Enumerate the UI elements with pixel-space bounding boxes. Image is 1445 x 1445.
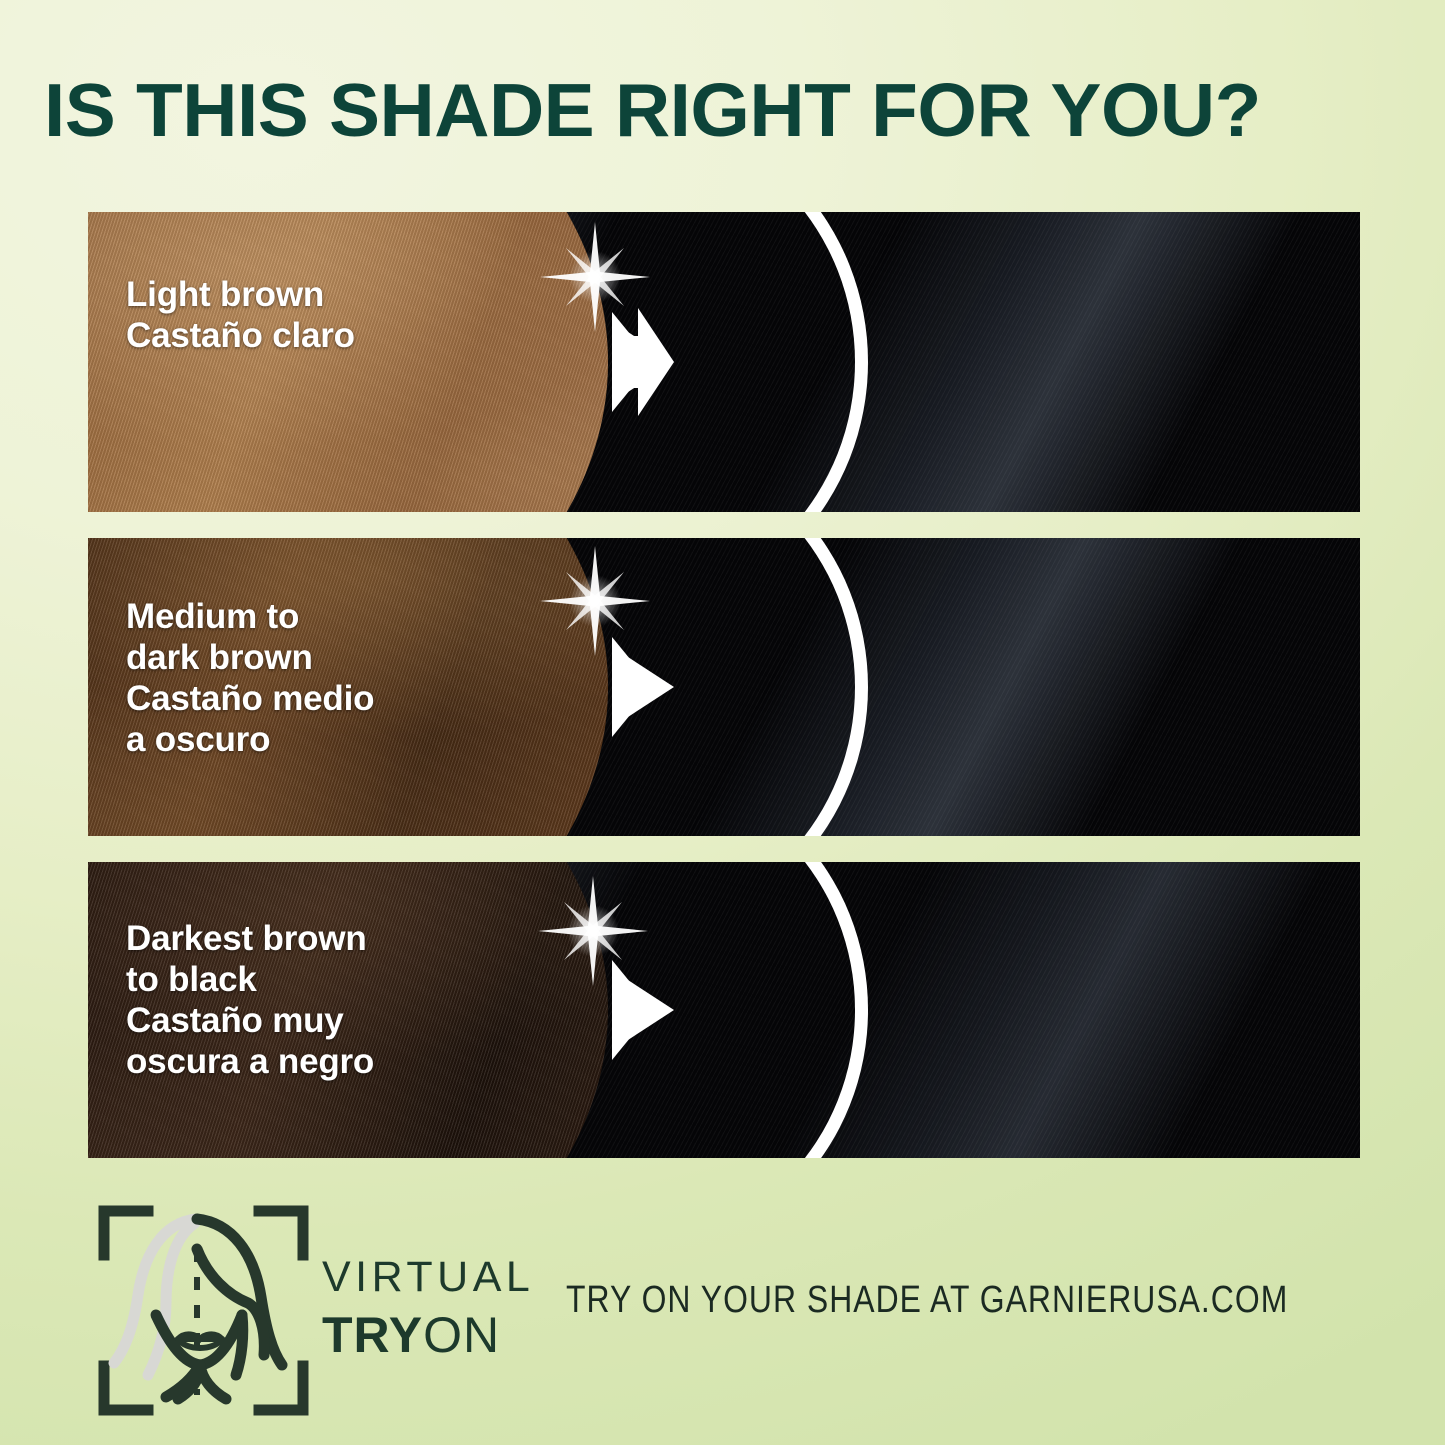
before-shade-swatch — [88, 212, 608, 512]
wordmark-try: TRY — [322, 1307, 423, 1363]
wordmark-on: ON — [423, 1307, 500, 1363]
virtual-try-on-wordmark[interactable]: VIRTUAL TRYON — [322, 1256, 534, 1360]
page-title: IS THIS SHADE RIGHT FOR YOU? — [44, 72, 1441, 148]
try-on-cta-text[interactable]: TRY ON YOUR SHADE AT GARNIERUSA.COM — [566, 1278, 1288, 1322]
hair-texture — [88, 212, 608, 512]
shade-caption: Light brown Castaño claro — [126, 274, 355, 356]
virtual-try-on-face-scan-icon[interactable] — [96, 1203, 311, 1418]
wordmark-virtual: VIRTUAL — [322, 1256, 534, 1299]
shade-panel-light-brown: Light brown Castaño claro — [88, 212, 1360, 512]
shade-panel-medium-to-dark-brown: Medium to dark brown Castaño medio a osc… — [88, 538, 1360, 836]
shade-caption: Darkest brown to black Castaño muy oscur… — [126, 918, 374, 1082]
wordmark-tryon: TRYON — [322, 1310, 534, 1360]
shade-guide-page: IS THIS SHADE RIGHT FOR YOU? — [0, 0, 1445, 1445]
shade-caption: Medium to dark brown Castaño medio a osc… — [126, 596, 374, 760]
shade-panel-darkest-brown-to-black: Darkest brown to black Castaño muy oscur… — [88, 862, 1360, 1158]
